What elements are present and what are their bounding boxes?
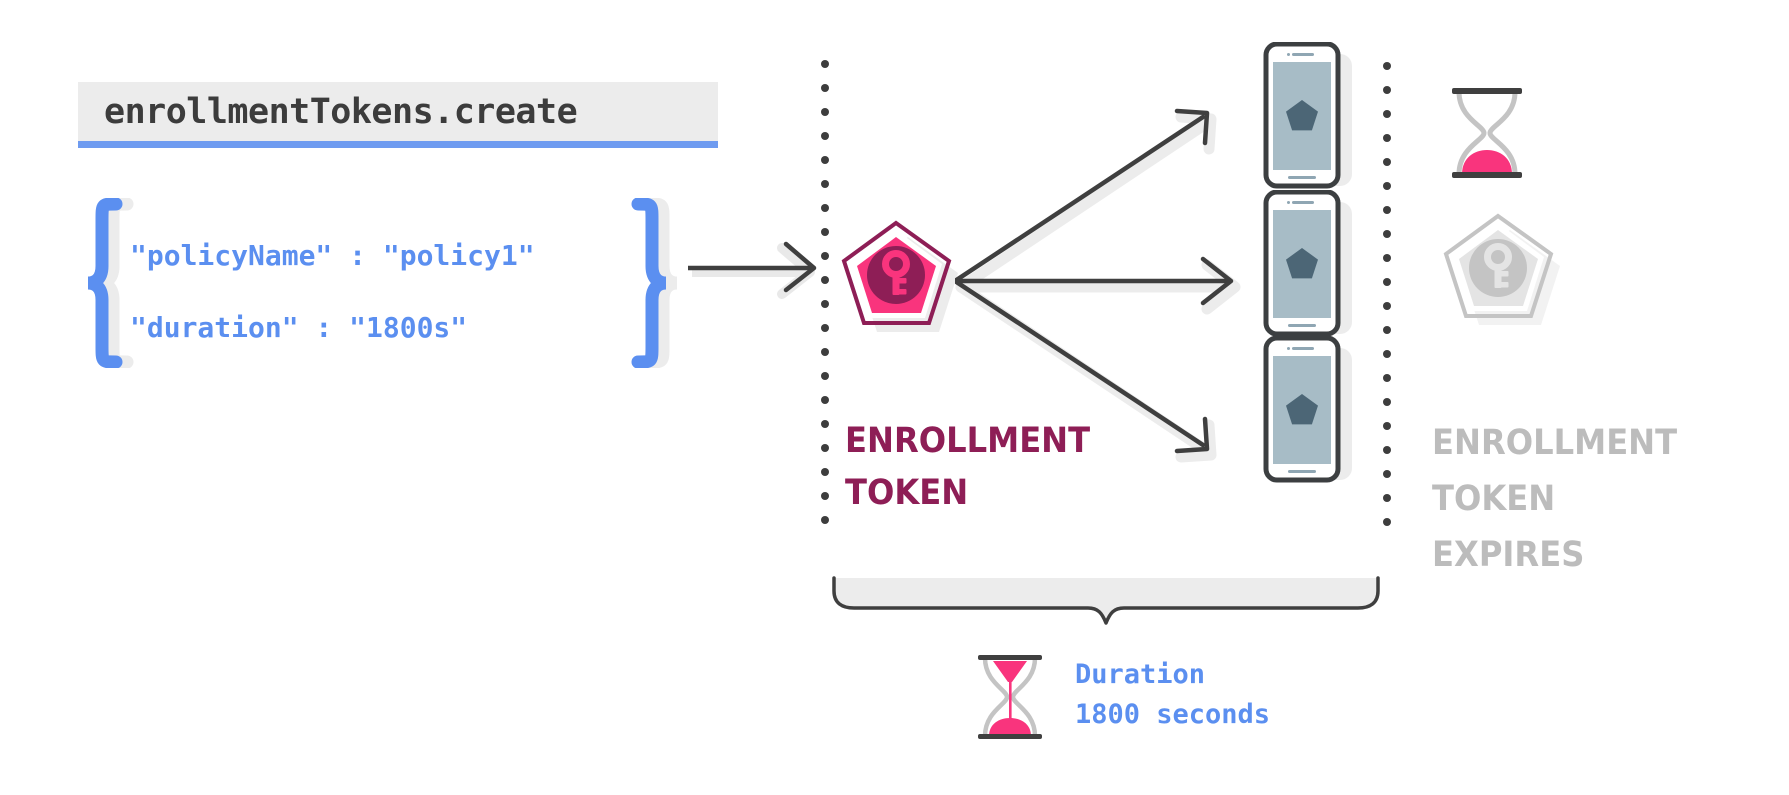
separator-dot <box>1383 518 1391 526</box>
separator-dot <box>1383 134 1391 142</box>
separator-dot <box>1383 470 1391 478</box>
separator-dot <box>821 372 829 380</box>
api-method-label: enrollmentTokens.create <box>104 92 577 132</box>
separator-dot <box>821 252 829 260</box>
separator-dot <box>1383 254 1391 262</box>
hourglass-flowing-icon <box>968 648 1058 748</box>
separator-dot <box>821 468 829 476</box>
separator-dot <box>1383 494 1391 502</box>
separator-dot <box>1383 230 1391 238</box>
hourglass-icon <box>1440 78 1550 188</box>
separator-dot <box>821 132 829 140</box>
separator-dot <box>821 300 829 308</box>
separator-dot <box>1383 302 1391 310</box>
distribution-arrows-icon <box>955 95 1265 480</box>
separator-dot <box>821 204 829 212</box>
separator-dot <box>1383 182 1391 190</box>
separator-dot <box>1383 422 1391 430</box>
pentagon-key-token-icon <box>830 215 970 350</box>
diagram-canvas: enrollmentTokens.create "policyName" : "… <box>0 0 1789 795</box>
api-method-header: enrollmentTokens.create <box>78 82 718 148</box>
separator-dot <box>1383 446 1391 454</box>
separator-dot <box>1383 110 1391 118</box>
phone-with-pentagon-icon <box>1262 336 1362 486</box>
request-body-line: "duration" : "1800s" <box>130 292 650 364</box>
separator-dot <box>1383 374 1391 382</box>
separator-dot <box>1383 86 1391 94</box>
expiry-label-line: TOKEN <box>1432 471 1745 527</box>
phone-with-pentagon-icon <box>1262 42 1362 192</box>
separator-dot <box>1383 206 1391 214</box>
curly-brace-down-icon <box>826 575 1386 645</box>
duration-caption-value: 1800 seconds <box>1075 695 1405 735</box>
separator-dot <box>1383 326 1391 334</box>
separator-dot <box>821 156 829 164</box>
separator-dot <box>821 348 829 356</box>
dotted-separator-left <box>821 60 829 530</box>
separator-dot <box>1383 350 1391 358</box>
separator-dot <box>821 108 829 116</box>
request-body-lines: "policyName" : "policy1" "duration" : "1… <box>130 220 650 364</box>
expiry-label-line: ENROLLMENT <box>1432 415 1745 471</box>
separator-dot <box>821 396 829 404</box>
duration-caption: Duration 1800 seconds <box>1075 655 1405 735</box>
expiry-label: ENROLLMENT TOKEN EXPIRES <box>1432 415 1772 583</box>
separator-dot <box>821 324 829 332</box>
separator-dot <box>1383 278 1391 286</box>
request-body-block: "policyName" : "policy1" "duration" : "1… <box>82 198 682 368</box>
separator-dot <box>1383 62 1391 70</box>
separator-dot <box>821 420 829 428</box>
separator-dot <box>821 516 829 524</box>
request-arrow-icon <box>686 232 826 302</box>
separator-dot <box>1383 158 1391 166</box>
separator-dot <box>821 180 829 188</box>
separator-dot <box>821 84 829 92</box>
pentagon-key-token-expired-icon <box>1432 208 1572 343</box>
separator-dot <box>821 60 829 68</box>
expiry-label-line: EXPIRES <box>1432 527 1745 583</box>
dotted-separator-right <box>1383 62 1391 527</box>
phone-with-pentagon-icon <box>1262 190 1362 340</box>
request-body-line: "policyName" : "policy1" <box>130 220 650 292</box>
separator-dot <box>821 444 829 452</box>
separator-dot <box>821 228 829 236</box>
duration-caption-title: Duration <box>1075 655 1405 695</box>
separator-dot <box>821 276 829 284</box>
separator-dot <box>1383 398 1391 406</box>
separator-dot <box>821 492 829 500</box>
